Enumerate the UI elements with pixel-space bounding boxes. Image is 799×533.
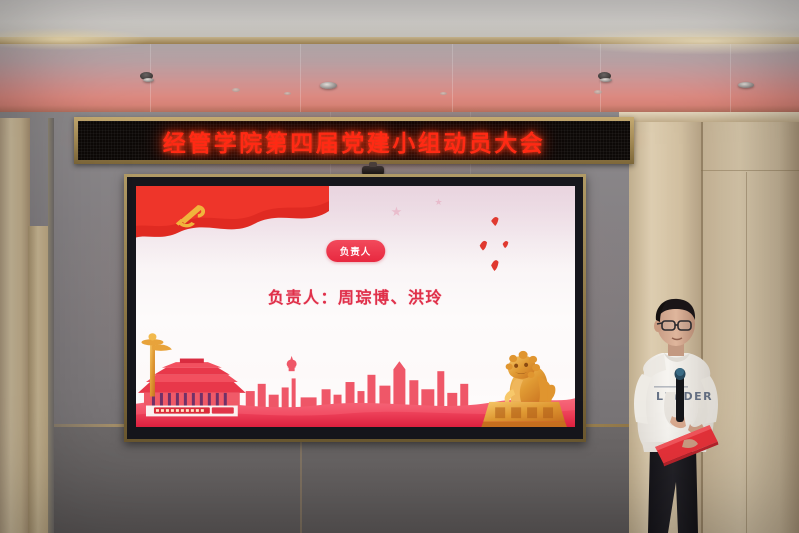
ceiling-cove-light-right	[559, 28, 799, 54]
presentation-slide: ★ ★	[136, 186, 575, 427]
led-banner-screen: 经管学院第四届党建小组动员大会	[78, 121, 630, 160]
flying-birds-graphic	[439, 203, 553, 285]
left-panel-edge	[48, 118, 54, 533]
ceiling	[0, 0, 799, 118]
left-wall-panel-outer	[0, 118, 30, 533]
ceiling-light-2	[320, 82, 337, 89]
ceiling-light-4	[284, 92, 291, 95]
star-watermark-1: ★	[391, 205, 403, 220]
presenter: LEADER	[622, 296, 732, 533]
ceiling-light-7	[738, 82, 754, 88]
party-flag-graphic	[136, 186, 329, 261]
ceiling-light-8	[594, 90, 602, 94]
slide-badge: 负责人	[326, 240, 386, 262]
right-panel-top-trim	[619, 112, 799, 122]
projection-screen: ★ ★	[124, 174, 586, 442]
photo-scene: 经管学院第四届党建小组动员大会 ★ ★	[0, 0, 799, 533]
slide-headline: 负责人：周琮博、洪玲	[268, 284, 443, 308]
right-panel-horizontal-seam	[701, 170, 799, 171]
left-wall-panel-inner	[28, 226, 50, 533]
ceiling-light-5	[440, 92, 447, 95]
led-banner: 经管学院第四届党建小组动员大会	[74, 117, 634, 164]
led-banner-text: 经管学院第四届党建小组动员大会	[163, 124, 546, 158]
right-panel-seam-2	[746, 172, 747, 533]
ceiling-light-3	[232, 88, 240, 92]
projection-screen-bezel: ★ ★	[127, 177, 583, 439]
ceiling-cove-light-left	[0, 28, 150, 50]
slide-skyline-graphic	[136, 326, 575, 427]
ceiling-light-6	[600, 78, 612, 82]
ceiling-light-1	[143, 78, 154, 82]
